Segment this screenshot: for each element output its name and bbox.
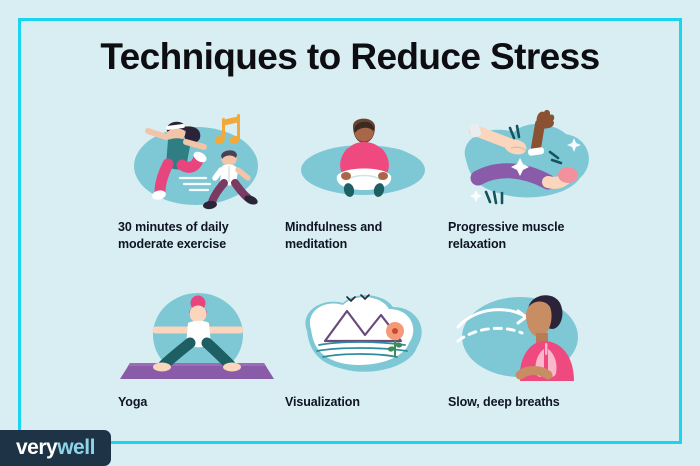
logo-text-well: well <box>57 436 95 460</box>
panel-visualization: Visualization <box>285 283 460 411</box>
caption-exercise: 30 minutes of daily moderate exercise <box>118 219 293 252</box>
panel-exercise: 30 minutes of daily moderate exercise <box>118 108 293 252</box>
caption-line: Slow, deep breaths <box>448 394 623 411</box>
caption-line: meditation <box>285 236 460 253</box>
caption-line: relaxation <box>448 236 623 253</box>
caption-line: Progressive muscle <box>448 219 623 236</box>
logo-text-very: very <box>16 436 57 460</box>
caption-line: 30 minutes of daily <box>118 219 293 236</box>
panel-mindfulness: Mindfulness and meditation <box>285 108 460 252</box>
panel-breathing: Slow, deep breaths <box>448 283 623 411</box>
illustration-muscle-relaxation <box>448 108 608 213</box>
illustration-visualization <box>285 283 445 388</box>
caption-mindfulness: Mindfulness and meditation <box>285 219 460 252</box>
caption-yoga: Yoga <box>118 394 293 411</box>
illustration-breathing <box>448 283 608 388</box>
caption-line: moderate exercise <box>118 236 293 253</box>
illustration-yoga <box>118 283 278 388</box>
verywell-logo[interactable]: verywell <box>0 430 111 466</box>
caption-visualization: Visualization <box>285 394 460 411</box>
infographic-canvas: Techniques to Reduce Stress <box>0 0 700 466</box>
caption-line: Mindfulness and <box>285 219 460 236</box>
caption-line: Visualization <box>285 394 460 411</box>
panel-pmr: Progressive muscle relaxation <box>448 108 623 252</box>
caption-line: Yoga <box>118 394 293 411</box>
page-title: Techniques to Reduce Stress <box>0 38 700 77</box>
panel-yoga: Yoga <box>118 283 293 411</box>
caption-pmr: Progressive muscle relaxation <box>448 219 623 252</box>
illustration-meditation <box>285 108 445 213</box>
illustration-exercise <box>118 108 278 213</box>
caption-breathing: Slow, deep breaths <box>448 394 623 411</box>
